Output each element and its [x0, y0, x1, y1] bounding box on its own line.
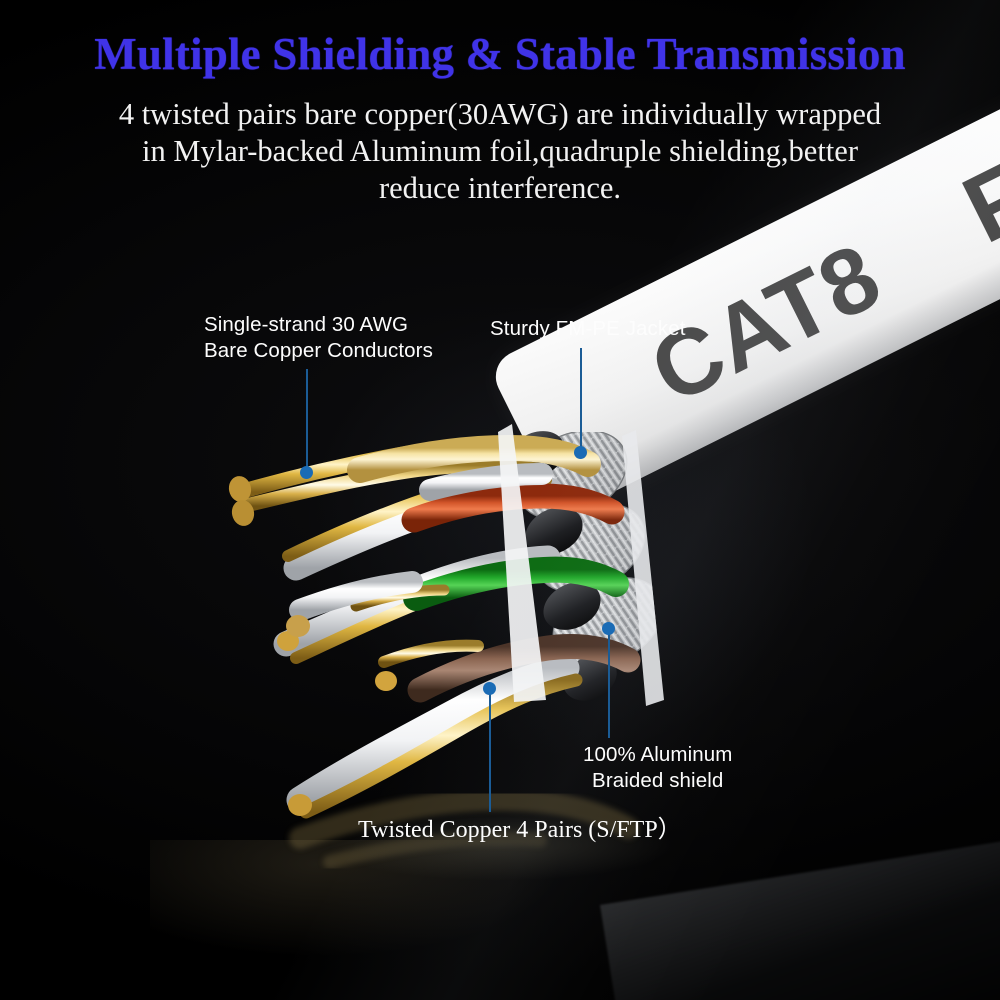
callout-label-twisted: Twisted Copper 4 Pairs (S/FTP） — [358, 817, 682, 843]
leader-dot-shield — [602, 622, 615, 635]
leader-dot-twisted — [483, 682, 496, 695]
callout-conductors-line2: Bare Copper Conductors — [204, 338, 433, 364]
page-subtitle: 4 twisted pairs bare copper(30AWG) are i… — [50, 96, 950, 207]
callout-label-jacket: Sturdy FM-PE Jacket — [490, 316, 686, 342]
infographic-canvas: CAT8 FL — [0, 0, 1000, 1000]
leader-line-twisted — [489, 690, 491, 812]
callout-label-shield: 100% Aluminum Braided shield — [583, 742, 732, 793]
subtitle-line-2: in Mylar-backed Aluminum foil,quadruple … — [50, 133, 950, 170]
callout-shield-line1: 100% Aluminum — [583, 742, 732, 768]
callout-label-conductors: Single-strand 30 AWG Bare Copper Conduct… — [204, 312, 433, 363]
leader-line-conductors — [306, 369, 308, 473]
subtitle-line-1: 4 twisted pairs bare copper(30AWG) are i… — [50, 96, 950, 133]
callout-shield-line2: Braided shield — [583, 768, 732, 794]
callout-conductors-line1: Single-strand 30 AWG — [204, 312, 433, 338]
subtitle-line-3: reduce interference. — [50, 170, 950, 207]
leader-line-shield — [608, 632, 610, 738]
callout-twisted-line1: Twisted Copper 4 Pairs (S/FTP） — [358, 817, 682, 843]
leader-dot-conductors — [300, 466, 313, 479]
leader-dot-jacket — [574, 446, 587, 459]
callout-jacket-line1: Sturdy FM-PE Jacket — [490, 316, 686, 342]
page-title: Multiple Shielding & Stable Transmission — [0, 28, 1000, 80]
leader-line-jacket — [580, 348, 582, 452]
